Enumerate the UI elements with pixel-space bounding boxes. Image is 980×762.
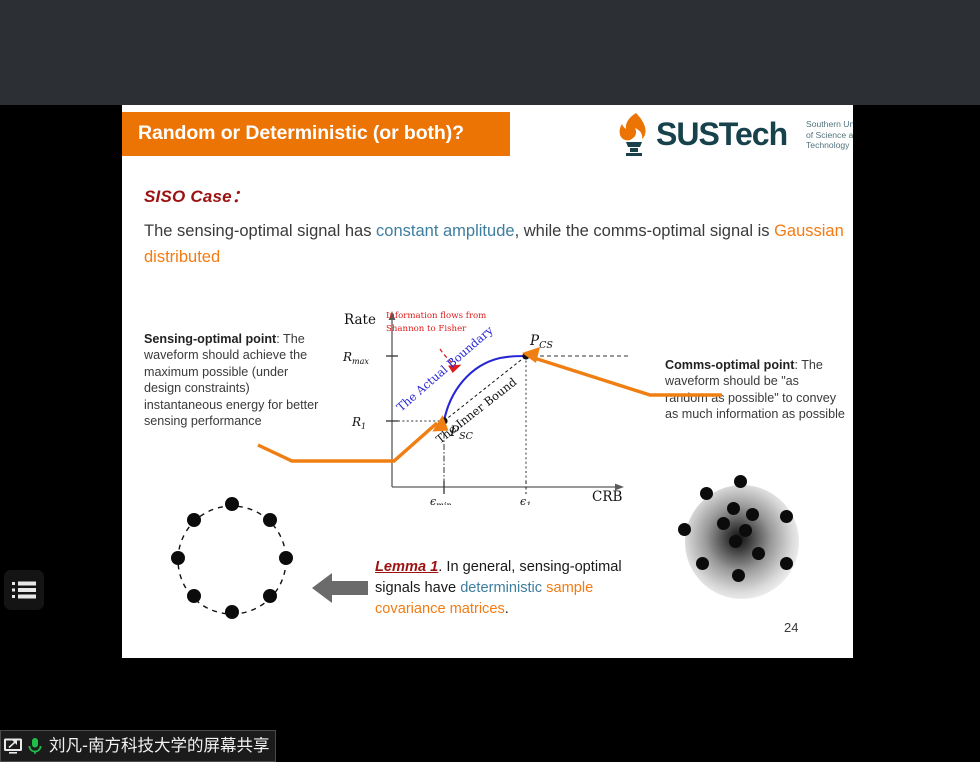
lemma-highlight-deterministic: deterministic — [460, 580, 542, 596]
slide-title-banner: Random or Deterministic (or both)? — [122, 112, 510, 156]
screen-share-indicator[interactable]: 刘凡-南方科技大学的屏幕共享 — [0, 730, 276, 762]
note-left-text: The waveform should achieve the maximum … — [144, 332, 318, 428]
screen-share-icon — [3, 736, 23, 756]
constellation-point — [187, 589, 201, 603]
note-sensing-optimal-point: Sensing-optimal point: The waveform shou… — [144, 331, 319, 429]
body-highlight-constant-amplitude: constant amplitude — [376, 222, 515, 240]
lemma-statement: Lemma 1. In general, sensing-optimal sig… — [375, 557, 635, 620]
cloud-point — [700, 487, 713, 500]
presentation-slide: Random or Deterministic (or both)? SUSTe… — [122, 105, 853, 658]
datapoint-pcs — [522, 352, 529, 359]
window-top-chrome — [0, 0, 980, 105]
participants-list-button[interactable] — [4, 570, 44, 610]
cloud-point — [696, 557, 709, 570]
cloud-point — [729, 535, 742, 548]
annotation-line2: Shannon to Fisher — [386, 324, 467, 334]
rate-crb-tradeoff-chart: Rate CRB Rmax R1 ϵmin ϵ1 PSC PCS The Act… — [340, 305, 650, 505]
share-status-label: 刘凡-南方科技大学的屏幕共享 — [49, 737, 269, 755]
chart-xlabel: CRB — [592, 489, 622, 505]
body-text-part2: , while the comms-optimal signal is — [515, 222, 775, 240]
constellation-point — [225, 605, 239, 619]
lemma-part3: . — [505, 601, 509, 617]
cloud-point — [734, 475, 747, 488]
slide-page-number: 24 — [784, 620, 798, 635]
constellation-point — [171, 551, 185, 565]
cloud-point — [780, 557, 793, 570]
body-paragraph: The sensing-optimal signal has constant … — [144, 218, 844, 270]
constellation-point — [225, 497, 239, 511]
sustech-logo: SUSTech Southern University of Science a… — [614, 110, 853, 160]
cloud-point — [746, 508, 759, 521]
wordmark-tech: Tech — [719, 116, 787, 152]
note-right-colon: : — [794, 358, 798, 372]
ytick-label-r1: R1 — [351, 415, 366, 431]
note-right-heading: Comms-optimal point — [665, 358, 794, 372]
cloud-point — [732, 569, 745, 582]
zoom-screen-share-window: Random or Deterministic (or both)? SUSTe… — [0, 0, 980, 762]
cloud-point — [678, 523, 691, 536]
lemma-label: Lemma 1 — [375, 559, 438, 575]
note-comms-optimal-point: Comms-optimal point: The waveform should… — [665, 357, 845, 423]
bottom-status-bar: 刘凡-南方科技大学的屏幕共享 — [0, 730, 980, 762]
cloud-point — [752, 547, 765, 560]
constellation-point — [263, 589, 277, 603]
cloud-point — [727, 502, 740, 515]
note-left-heading: Sensing-optimal point — [144, 332, 276, 346]
constellation-point — [187, 513, 201, 527]
body-text-part1: The sensing-optimal signal has — [144, 222, 376, 240]
note-left-colon: : — [276, 332, 280, 346]
chart-ylabel: Rate — [344, 312, 376, 328]
wordmark-sus: SUS — [656, 116, 719, 152]
cloud-point — [780, 510, 793, 523]
sustech-wordmark: SUSTech — [656, 116, 787, 153]
list-view-icon — [12, 581, 36, 599]
constellation-point — [279, 551, 293, 565]
sustech-torch-icon — [614, 112, 654, 158]
slide-title: Random or Deterministic (or both)? — [138, 122, 464, 145]
gaussian-blur-halo — [685, 485, 799, 599]
shared-screen-stage: Random or Deterministic (or both)? SUSTe… — [0, 105, 980, 730]
cloud-point — [717, 517, 730, 530]
logo-subtitle: Southern University of Science and Techn… — [806, 119, 853, 151]
microphone-icon — [25, 736, 45, 756]
datapoint-psc — [440, 417, 447, 424]
xtick-label-epsmin: ϵmin — [430, 495, 451, 505]
constant-amplitude-constellation — [167, 495, 297, 625]
gaussian-random-cloud — [667, 475, 817, 610]
section-heading: SISO Case： — [144, 182, 249, 207]
left-block-arrow-icon — [310, 567, 370, 609]
datapoint-label-pcs: PCS — [529, 333, 553, 351]
constellation-point — [263, 513, 277, 527]
ytick-label-rmax: Rmax — [342, 350, 369, 366]
cloud-point — [739, 524, 752, 537]
annotation-line1: Information flows from — [386, 311, 486, 321]
xtick-label-eps1: ϵ1 — [520, 495, 531, 505]
